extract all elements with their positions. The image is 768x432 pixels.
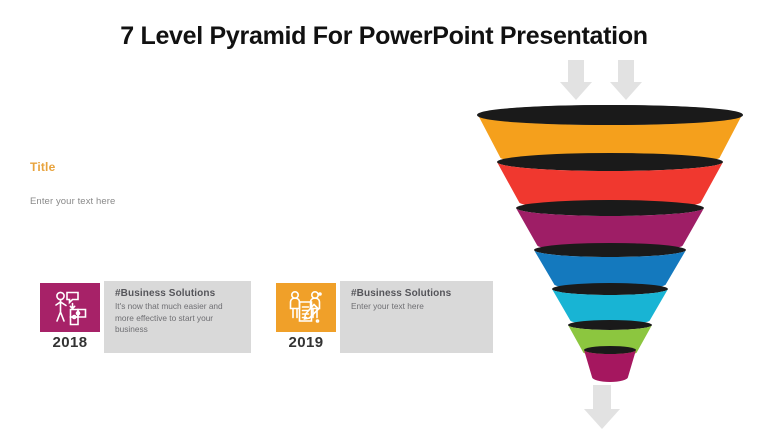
page-title: 7 Level Pyramid For PowerPoint Presentat… [0, 22, 768, 51]
funnel-level-4 [534, 243, 686, 290]
funnel-level-7 [584, 346, 636, 382]
card-heading: #Business Solutions [115, 288, 241, 299]
card-tile: 2018 [36, 281, 104, 353]
card-text-panel: #Business Solutions It's now that much e… [104, 281, 251, 353]
top-arrow-right [610, 60, 642, 100]
slide-canvas: 7 Level Pyramid For PowerPoint Presentat… [0, 0, 768, 432]
card-year: 2019 [289, 333, 324, 353]
info-card-2018[interactable]: 2018 #Business Solutions It's now that m… [36, 281, 251, 353]
team-document-pen-icon [276, 283, 336, 332]
left-block-title: Title [30, 160, 250, 174]
left-text-block: Title Enter your text here [30, 160, 250, 207]
bottom-arrow [584, 385, 620, 429]
presenter-puzzle-icon [40, 283, 100, 332]
top-arrow-left [560, 60, 592, 100]
funnel-level-5 [552, 283, 668, 325]
card-body: It's now that much easier and more effec… [115, 301, 241, 336]
funnel-diagram [460, 60, 760, 432]
card-tile: 2019 [272, 281, 340, 353]
left-block-body: Enter your text here [30, 196, 250, 207]
card-year: 2018 [53, 333, 88, 353]
